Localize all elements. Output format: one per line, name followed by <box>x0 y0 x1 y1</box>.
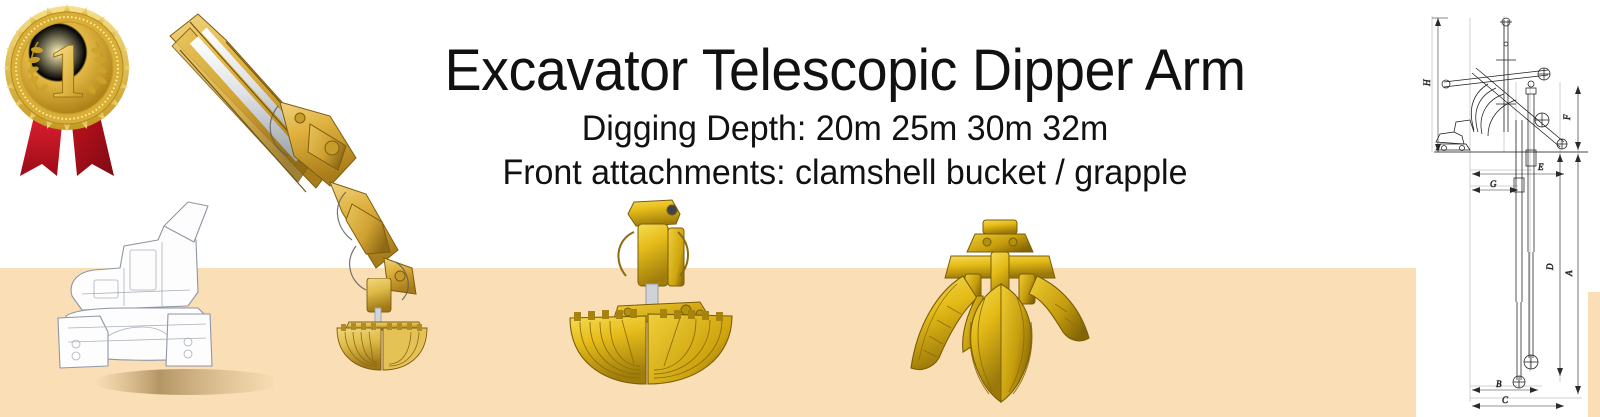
dim-label-G: G <box>1490 179 1497 189</box>
dim-label-H: H <box>1422 79 1432 87</box>
orange-peel-grapple-attachment <box>905 218 1095 403</box>
product-banner: 1 <box>0 0 1600 417</box>
dim-label-E: E <box>1537 162 1544 172</box>
badge-number: 1 <box>48 27 87 114</box>
dim-label-D: D <box>1545 263 1555 271</box>
award-badge: 1 <box>2 4 132 179</box>
clamshell-bucket-on-arm <box>315 278 450 373</box>
technical-dimension-drawing: H F E <box>1392 2 1600 417</box>
dim-label-A: A <box>1564 270 1574 277</box>
dim-label-F: F <box>1562 114 1572 121</box>
dim-label-B: B <box>1496 379 1502 389</box>
page-title: Excavator Telescopic Dipper Arm <box>322 40 1368 102</box>
clamshell-bucket-attachment <box>560 198 745 388</box>
front-attachments-spec: Front attachments: clamshell bucket / gr… <box>316 152 1373 193</box>
dim-label-C: C <box>1502 395 1509 405</box>
headline-block: Excavator Telescopic Dipper Arm Digging … <box>300 40 1390 193</box>
digging-depth-spec: Digging Depth: 20m 25m 30m 32m <box>316 108 1373 149</box>
